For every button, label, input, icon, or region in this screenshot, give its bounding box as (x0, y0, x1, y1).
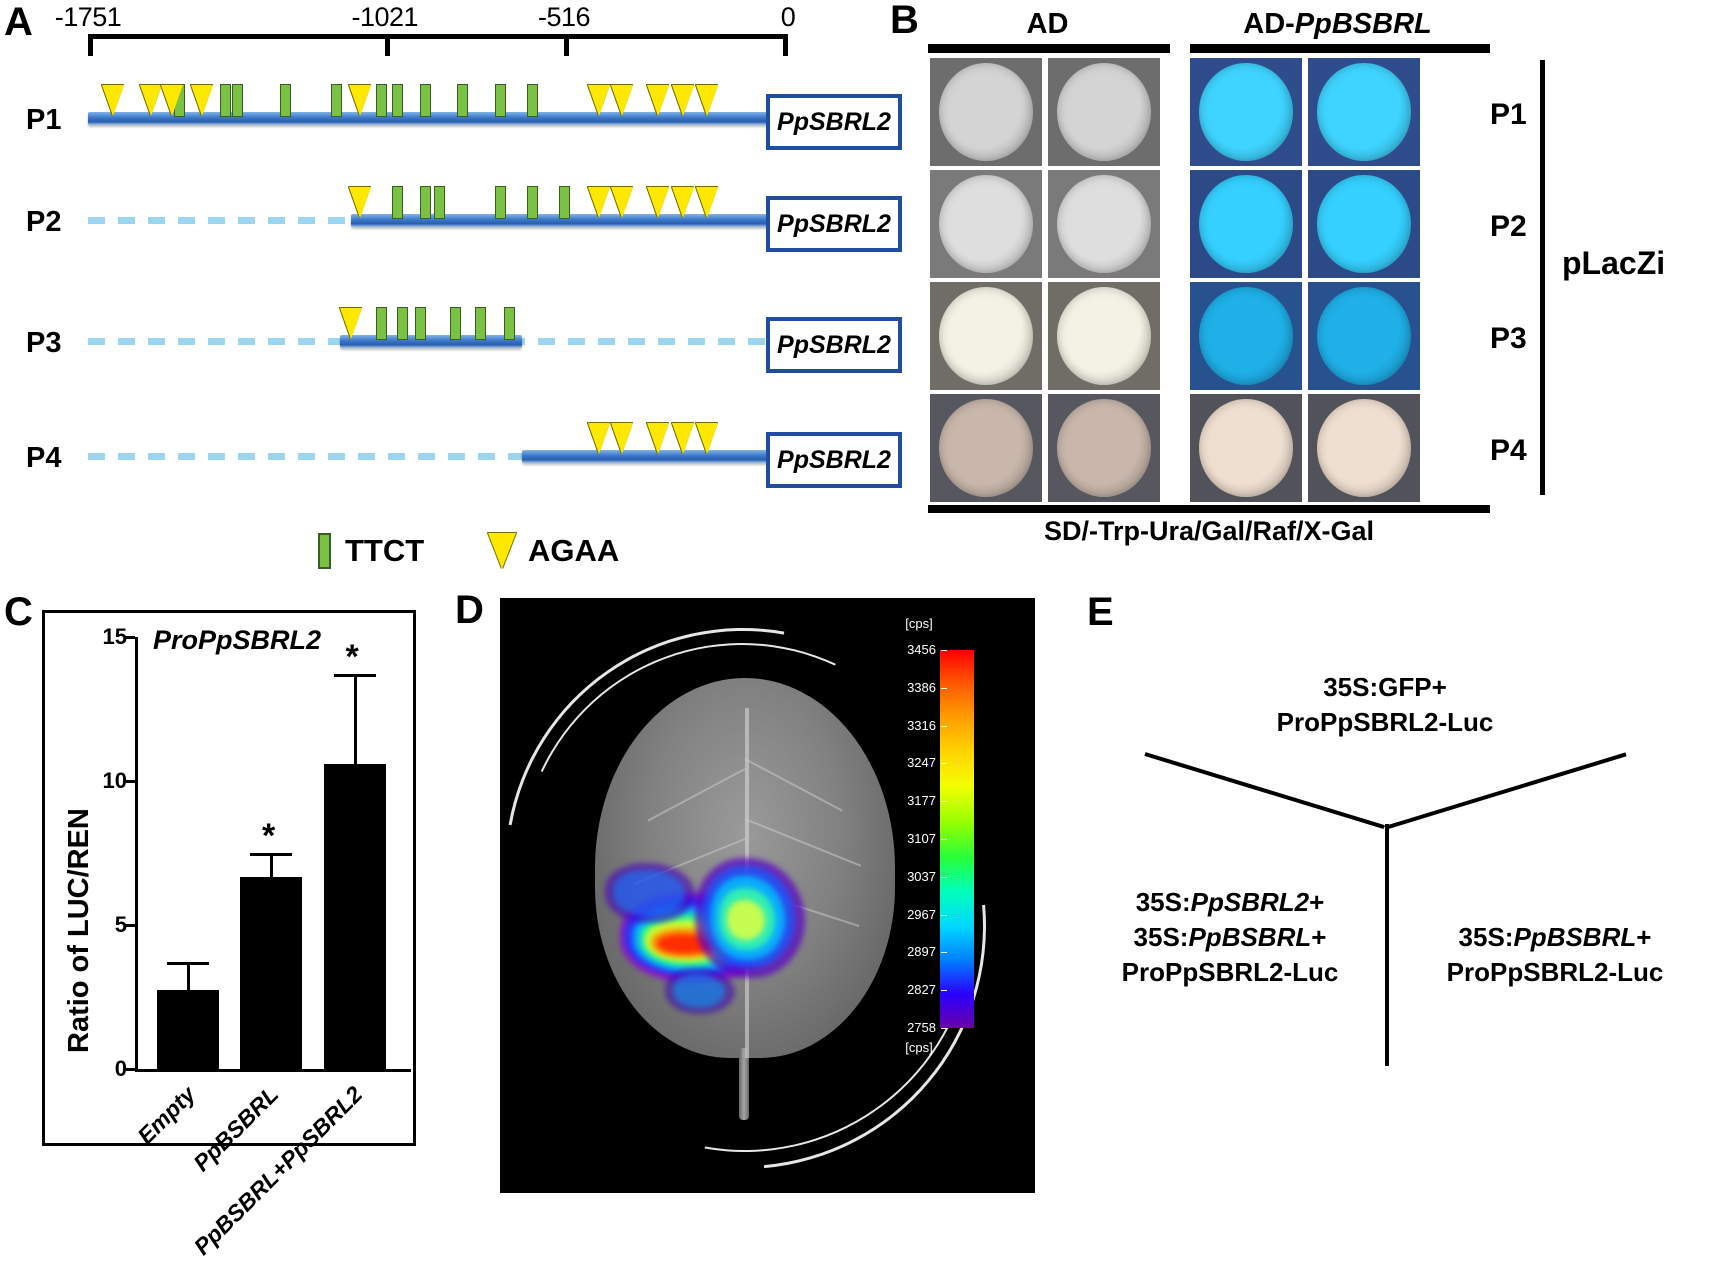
yeast-plate-p2-ad-2 (1048, 170, 1160, 278)
colorbar-tick-mark (941, 915, 947, 916)
ttct-motif (450, 307, 461, 340)
plate-row-label-p1: P1 (1490, 98, 1527, 132)
y-diagram-branch-right (1384, 752, 1626, 830)
label-line: ProPpSBRL2-Luc (1085, 955, 1375, 990)
construct-label-p1: P1 (26, 104, 61, 137)
text-part: ProPpSBRL2-Luc (1122, 957, 1339, 987)
bar-1 (240, 877, 302, 1069)
text-part: ProPpSBRL2-Luc (1447, 957, 1664, 987)
agaa-motif (349, 85, 371, 116)
ttct-motif (504, 307, 515, 340)
axis-tick-0: -1751 (52, 2, 124, 33)
colorbar-tick-3177: 3177 (890, 793, 936, 808)
agaa-motif (696, 187, 718, 218)
label-35s-ppbsbrl: 35S:PpBSBRL+ProPpSBRL2-Luc (1400, 920, 1710, 990)
gene-name: PpBSBRL (1513, 922, 1636, 952)
ttct-motif (232, 84, 243, 117)
panel-a: A -1751-1021-5160 P1PpSBRL2P2PpSBRL2P3Pp… (0, 0, 900, 580)
label-line: 35S:GFP+ (1155, 670, 1615, 705)
agaa-motif (191, 85, 213, 116)
panel-e: E 35S:GFP+ProPpSBRL2-Luc 35S:PpSBRL2+35S… (1065, 570, 1729, 1204)
ttct-motif (397, 307, 408, 340)
colorbar-tick-3456: 3456 (890, 642, 936, 657)
legend-label-ttct: TTCT (345, 533, 424, 569)
x-tick-label-0: Empty (132, 1081, 201, 1150)
panel-b: B AD AD-PpBSBRL P1P2P3P4 pLacZi SD/-Trp-… (890, 0, 1729, 580)
plate-row-label-p4: P4 (1490, 434, 1527, 468)
ttct-motif (495, 186, 506, 219)
text-part: 35S:GFP+ (1323, 672, 1447, 702)
y-tick-mark (126, 1068, 135, 1071)
agaa-motif (588, 423, 610, 454)
ruler-tick-0 (88, 34, 93, 56)
agaa-motif (611, 85, 633, 116)
y-tick-label-10: 10 (87, 768, 127, 794)
yeast-plate-p4-ad-2 (1048, 394, 1160, 502)
promoter-fragment (340, 335, 522, 348)
gene-box: PpSBRL2 (766, 432, 902, 488)
yeast-colony (939, 399, 1033, 496)
ttct-motif (434, 186, 445, 219)
colorbar-tick-mark (941, 801, 947, 802)
yeast-colony (1317, 287, 1411, 384)
ttct-motif (495, 84, 506, 117)
agaa-motif (696, 423, 718, 454)
x-tick-label-2: PpBSBRL+PpSBRL2 (188, 1081, 367, 1260)
construct-label-p3: P3 (26, 327, 61, 360)
label-line: 35S:PpSBRL2+ (1085, 885, 1375, 920)
agaa-motif (672, 187, 694, 218)
ttct-motif (220, 84, 231, 117)
yeast-plate-p2-ad-1 (930, 170, 1042, 278)
legend-yellow-triangle-icon (488, 533, 516, 569)
y-tick-mark (126, 636, 135, 639)
agaa-motif (672, 85, 694, 116)
label-35s-ppsbrl2-ppbsbrl: 35S:PpSBRL2+35S:PpBSBRL+ProPpSBRL2-Luc (1085, 885, 1375, 990)
yeast-colony (1057, 399, 1151, 496)
yeast-plate-p3-ad-2 (1048, 282, 1160, 390)
ttct-motif (527, 84, 538, 117)
axis-tick-2: -516 (528, 2, 600, 33)
panel-c: C ProPpSBRL2 Ratio of LUC/REN 051015 ** … (0, 570, 440, 1204)
yeast-plate-p3-adppbsbrl-1 (1190, 282, 1302, 390)
agaa-motif (349, 187, 371, 218)
ttct-motif (280, 84, 291, 117)
placzi-bracket (1540, 60, 1545, 495)
colorbar-tick-mark (941, 1028, 947, 1029)
colorbar-tick-2758: 2758 (890, 1020, 936, 1035)
panel-b-bottom-caption: SD/-Trp-Ura/Gal/Raf/X-Gal (928, 516, 1490, 547)
header-rule-ad-ppbsbrl (1190, 44, 1490, 53)
label-line: 35S:PpBSBRL+ (1400, 920, 1710, 955)
ttct-motif (420, 84, 431, 117)
colorbar-unit-bottom: [cps] (896, 1040, 942, 1055)
yeast-plate-p2-adppbsbrl-1 (1190, 170, 1302, 278)
agaa-motif (611, 423, 633, 454)
text-part: + (1309, 887, 1324, 917)
ttct-motif (475, 307, 486, 340)
gene-box-label: PpSBRL2 (777, 210, 891, 239)
label-line: ProPpSBRL2-Luc (1400, 955, 1710, 990)
yeast-plate-p3-adppbsbrl-2 (1308, 282, 1420, 390)
placzi-label: pLacZi (1562, 245, 1665, 282)
yeast-plate-p4-adppbsbrl-1 (1190, 394, 1302, 502)
legend-green-box-icon (318, 533, 331, 569)
gene-box: PpSBRL2 (766, 196, 902, 252)
text-part: + (1636, 922, 1651, 952)
yeast-colony (1057, 63, 1151, 160)
bar-0 (157, 990, 219, 1069)
y-tick-mark (126, 924, 135, 927)
dashed-segment (88, 453, 522, 460)
panel-c-letter: C (4, 592, 33, 632)
gene-name: PpBSBRL (1188, 922, 1311, 952)
yeast-colony (939, 63, 1033, 160)
header-rule-ad (928, 44, 1170, 53)
yeast-colony (1317, 399, 1411, 496)
agaa-motif (588, 187, 610, 218)
yeast-plate-p1-ad-1 (930, 58, 1042, 166)
colorbar-tick-3037: 3037 (890, 869, 936, 884)
ttct-motif (376, 307, 387, 340)
ttct-motif (392, 84, 403, 117)
column-header-ad: AD (925, 8, 1170, 41)
colorbar-tick-mark (941, 726, 947, 727)
yeast-colony (939, 287, 1033, 384)
label-line: ProPpSBRL2-Luc (1155, 705, 1615, 740)
y-tick-mark (126, 780, 135, 783)
chart-frame: ProPpSBRL2 Ratio of LUC/REN 051015 ** Em… (42, 610, 416, 1146)
ruler-tick-1 (385, 34, 390, 56)
y-diagram-stem (1385, 824, 1389, 1066)
text-part: ProPpSBRL2-Luc (1277, 707, 1494, 737)
agaa-motif (102, 85, 124, 116)
ruler-tick-2 (564, 34, 569, 56)
leaf-container (545, 648, 945, 1148)
yeast-colony (1199, 287, 1293, 384)
ttct-motif (376, 84, 387, 117)
significance-star-2: * (346, 640, 359, 674)
gene-box-label: PpSBRL2 (777, 446, 891, 475)
error-cap-0 (167, 962, 209, 965)
agaa-motif (647, 423, 669, 454)
colorbar-tick-mark (941, 952, 947, 953)
signal-blob-15 (673, 974, 725, 1008)
chart-title: ProPpSBRL2 (153, 625, 321, 656)
agaa-motif (611, 187, 633, 218)
yeast-colony (1317, 63, 1411, 160)
y-tick-label-15: 15 (87, 624, 127, 650)
colorbar-tick-2897: 2897 (890, 944, 936, 959)
yeast-plate-p1-ad-2 (1048, 58, 1160, 166)
agaa-motif (647, 85, 669, 116)
axis-tick-1: -1021 (349, 2, 421, 33)
axis-tick-3: 0 (752, 2, 824, 33)
ttct-motif (415, 307, 426, 340)
gene-box-label: PpSBRL2 (777, 108, 891, 137)
yeast-colony (939, 175, 1033, 272)
label-35s-gfp: 35S:GFP+ProPpSBRL2-Luc (1155, 670, 1615, 740)
yeast-colony (1057, 287, 1151, 384)
gene-box: PpSBRL2 (766, 94, 902, 150)
text-part: 35S: (1134, 922, 1189, 952)
colorbar-tick-2967: 2967 (890, 907, 936, 922)
ttct-motif (527, 186, 538, 219)
panel-a-letter: A (4, 2, 33, 42)
yeast-plate-p1-adppbsbrl-2 (1308, 58, 1420, 166)
ttct-motif (331, 84, 342, 117)
construct-label-p4: P4 (26, 442, 61, 475)
yeast-colony (1199, 63, 1293, 160)
yeast-colony (1199, 175, 1293, 272)
yeast-plate-p4-ad-1 (930, 394, 1042, 502)
agaa-motif (340, 308, 362, 339)
colorbar-tick-mark (941, 688, 947, 689)
yeast-plate-p4-adppbsbrl-2 (1308, 394, 1420, 502)
ttct-motif (392, 186, 403, 219)
gene-box-label: PpSBRL2 (777, 331, 891, 360)
chart-x-axis (135, 1069, 411, 1072)
y-diagram-branch-left (1144, 752, 1384, 829)
agaa-motif (696, 85, 718, 116)
yeast-colony (1199, 399, 1293, 496)
ttct-motif (420, 186, 431, 219)
colorbar-unit-top: [cps] (896, 616, 942, 631)
column-header-ad-ppbsbrl: AD-PpBSBRL (1185, 8, 1490, 41)
y-tick-label-0: 0 (87, 1056, 127, 1082)
colorbar-tick-2827: 2827 (890, 982, 936, 997)
ttct-motif (457, 84, 468, 117)
error-bar-2 (354, 674, 357, 763)
error-bar-1 (270, 853, 273, 877)
agaa-motif (647, 187, 669, 218)
text-part: + (1311, 922, 1326, 952)
text-part: 35S: (1136, 887, 1191, 917)
construct-label-p2: P2 (26, 206, 61, 239)
agaa-motif (588, 85, 610, 116)
agaa-motif (161, 85, 183, 116)
chart-y-axis (135, 637, 138, 1069)
text-part: 35S: (1459, 922, 1514, 952)
gene-name: PpSBRL2 (1191, 887, 1309, 917)
error-bar-0 (187, 962, 190, 989)
signal-blob-13 (613, 870, 685, 916)
ttct-motif (559, 186, 570, 219)
legend-label-agaa: AGAA (528, 533, 619, 569)
ruler-baseline (88, 34, 788, 39)
label-line: 35S:PpBSBRL+ (1085, 920, 1375, 955)
colorbar-tick-mark (941, 877, 947, 878)
ruler-tick-3 (783, 34, 788, 56)
agaa-motif (140, 85, 162, 116)
signal-blob-11 (727, 900, 765, 940)
panel-b-letter: B (890, 0, 919, 40)
plate-row-label-p3: P3 (1490, 322, 1527, 356)
agaa-motif (672, 423, 694, 454)
bottom-rule (928, 505, 1490, 513)
yeast-colony (1057, 175, 1151, 272)
colorbar-tick-3316: 3316 (890, 718, 936, 733)
colorbar-tick-3386: 3386 (890, 680, 936, 695)
colorbar-tick-3107: 3107 (890, 831, 936, 846)
yeast-plate-p3-ad-1 (930, 282, 1042, 390)
yeast-plate-p2-adppbsbrl-2 (1308, 170, 1420, 278)
colorbar-tick-mark (941, 650, 947, 651)
leaf-stem (739, 1048, 749, 1120)
panel-e-letter: E (1087, 592, 1114, 632)
colorbar-tick-mark (941, 990, 947, 991)
colorbar-tick-mark (941, 839, 947, 840)
plate-row-label-p2: P2 (1490, 210, 1527, 244)
luminescence-image: [cps][cps]345633863316324731773107303729… (500, 598, 1035, 1193)
bar-2 (324, 764, 386, 1069)
colorbar-tick-3247: 3247 (890, 755, 936, 770)
panel-d: D [cps][cps]3456338633163247317731073037… (455, 570, 1065, 1204)
colorbar-tick-mark (941, 763, 947, 764)
significance-star-1: * (262, 819, 275, 853)
yeast-plate-p1-adppbsbrl-1 (1190, 58, 1302, 166)
dashed-segment (88, 217, 351, 224)
y-tick-label-5: 5 (87, 912, 127, 938)
gene-box: PpSBRL2 (766, 317, 902, 373)
panel-d-letter: D (455, 590, 484, 630)
yeast-colony (1317, 175, 1411, 272)
